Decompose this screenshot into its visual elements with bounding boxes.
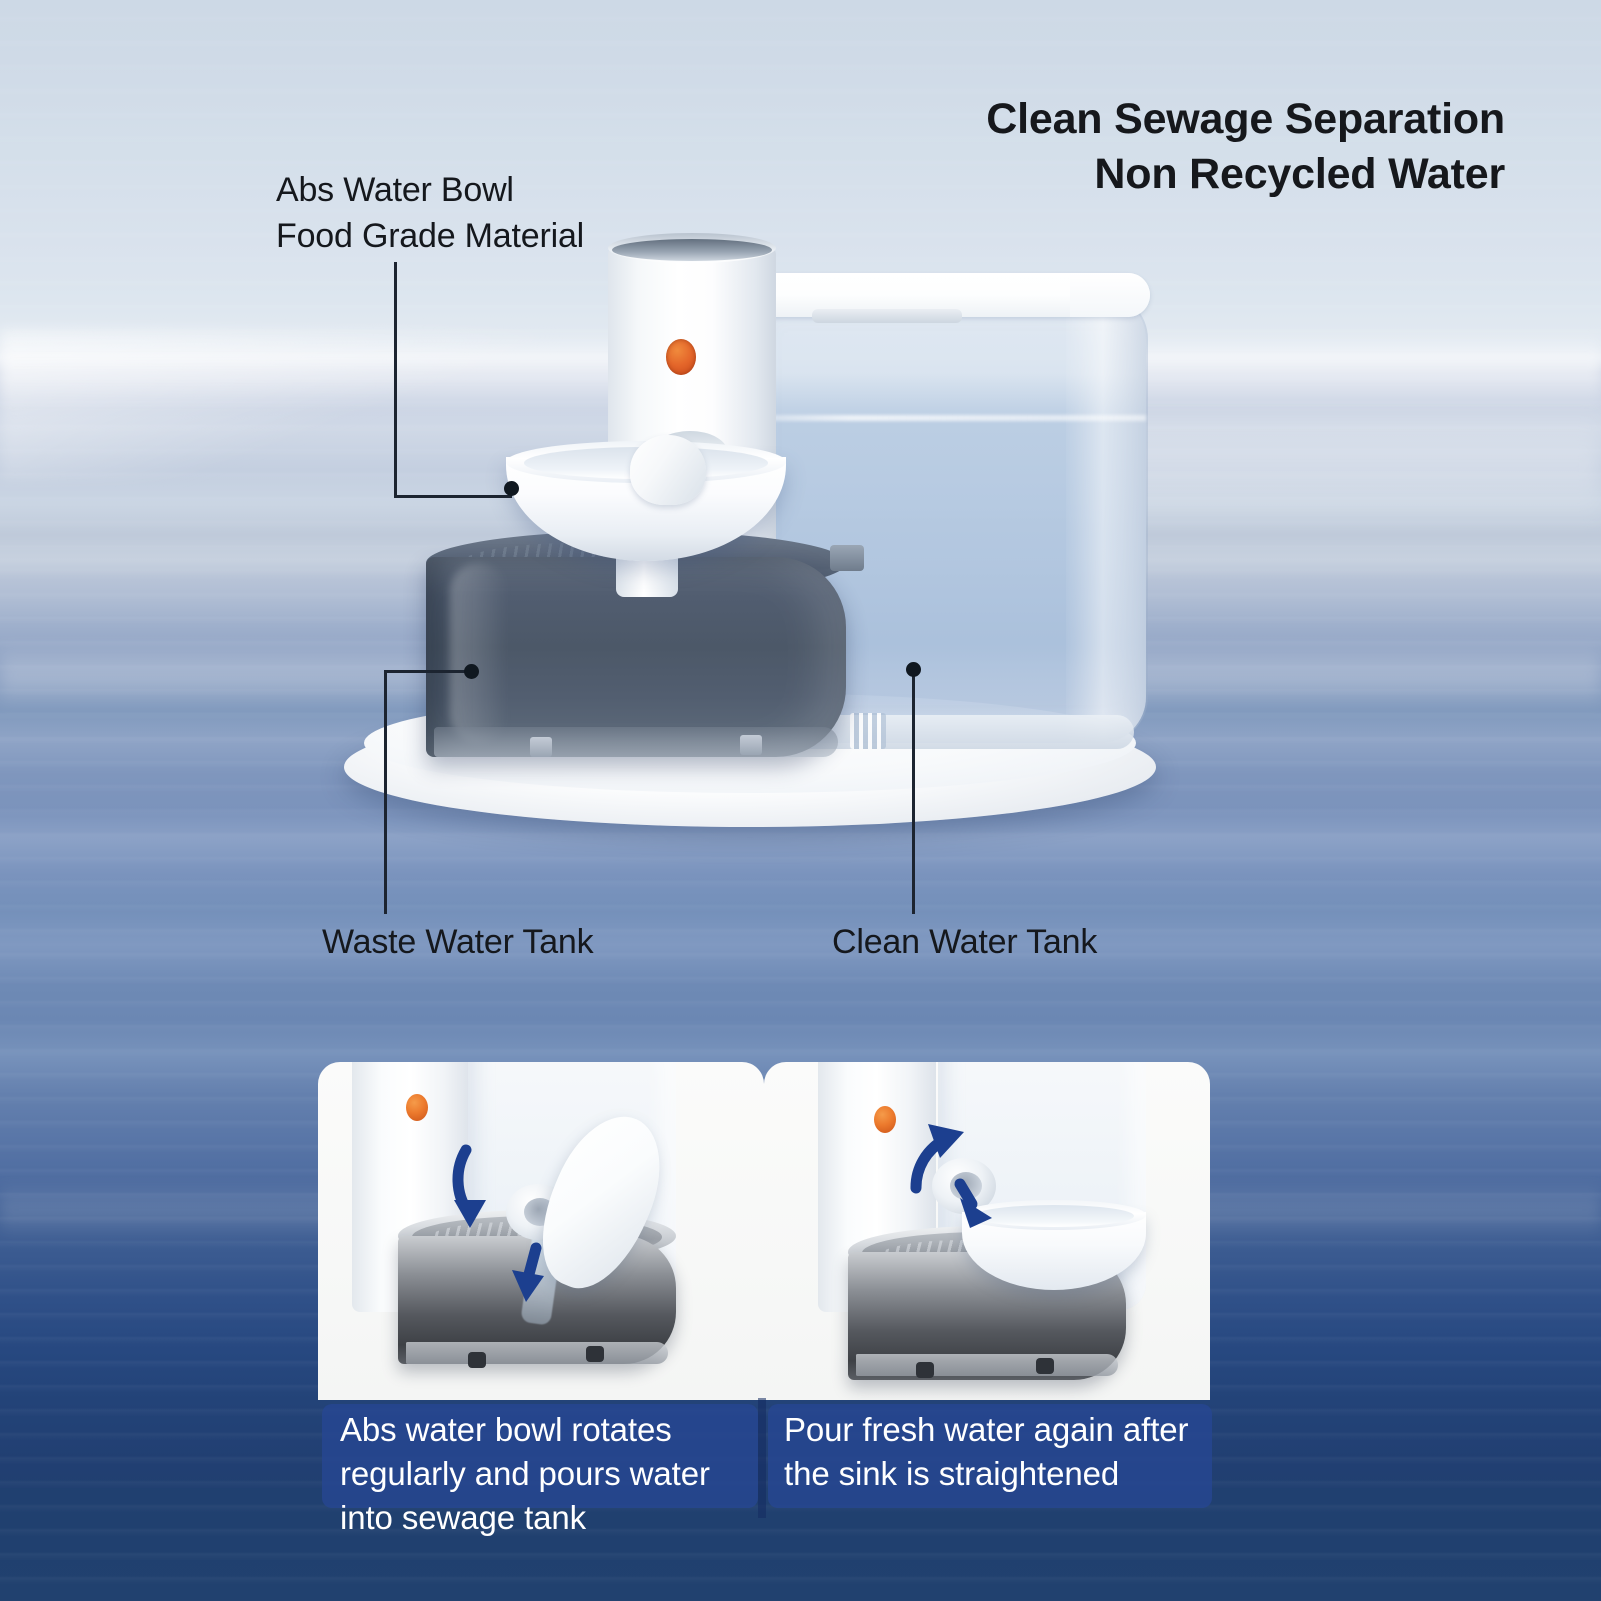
- leader-endpoint-dot: [906, 662, 921, 677]
- power-button-icon[interactable]: [666, 339, 696, 375]
- leader-vertical: [394, 262, 397, 498]
- headline-line-2: Non Recycled Water: [986, 147, 1505, 202]
- clean-water-tank-side-gloss: [1066, 293, 1148, 743]
- caption-line: Abs water bowl rotates: [340, 1408, 760, 1452]
- leader-endpoint-dot: [504, 481, 519, 496]
- caption-pour-fresh-water: Pour fresh water again after the sink is…: [784, 1408, 1234, 1496]
- clean-water-tank-handle: [812, 309, 962, 323]
- leader-vertical: [912, 672, 915, 914]
- waste-tank-clip-left: [530, 737, 552, 757]
- water-spout: [630, 435, 706, 505]
- label-waste-water-tank: Waste Water Tank: [322, 920, 593, 966]
- clean-water-level-line: [726, 415, 1146, 421]
- caption-line: Pour fresh water again after: [784, 1408, 1234, 1452]
- pour-arrowhead-icon: [512, 1270, 544, 1302]
- leader-endpoint-dot: [464, 664, 479, 679]
- rotation-arrows-left: [318, 1062, 764, 1400]
- clean-water-tank-ribs: [850, 713, 886, 749]
- label-line-2: Food Grade Material: [276, 214, 584, 260]
- waste-tank-clip-right: [740, 735, 762, 755]
- infographic-canvas: Clean Sewage Separation Non Recycled Wat…: [0, 0, 1601, 1601]
- caption-line: regularly and pours water: [340, 1452, 760, 1496]
- step-panel-pour-fresh-water: [764, 1062, 1210, 1400]
- clean-water-tank-lid-end: [1070, 273, 1150, 317]
- waste-water-tank-foot: [434, 727, 838, 757]
- headline: Clean Sewage Separation Non Recycled Wat…: [986, 92, 1505, 202]
- label-clean-water-tank: Clean Water Tank: [832, 920, 1097, 966]
- leader-vertical: [384, 672, 387, 914]
- leader-horizontal: [394, 495, 512, 498]
- product-illustration: [330, 245, 1170, 825]
- waste-tank-highlight: [450, 563, 508, 743]
- step-panel-bowl-rotates: [318, 1062, 764, 1400]
- rotation-arrows-right: [764, 1062, 1210, 1400]
- pump-column-rim: [612, 239, 772, 261]
- leader-horizontal: [384, 670, 470, 673]
- label-abs-water-bowl: Abs Water Bowl Food Grade Material: [276, 168, 584, 259]
- caption-bowl-rotates: Abs water bowl rotates regularly and pou…: [340, 1408, 760, 1540]
- tank-connector: [830, 545, 864, 571]
- caption-line: into sewage tank: [340, 1496, 760, 1540]
- caption-line: the sink is straightened: [784, 1452, 1234, 1496]
- headline-line-1: Clean Sewage Separation: [986, 92, 1505, 147]
- label-line-1: Abs Water Bowl: [276, 168, 584, 214]
- rotate-arrowhead-icon: [454, 1200, 486, 1228]
